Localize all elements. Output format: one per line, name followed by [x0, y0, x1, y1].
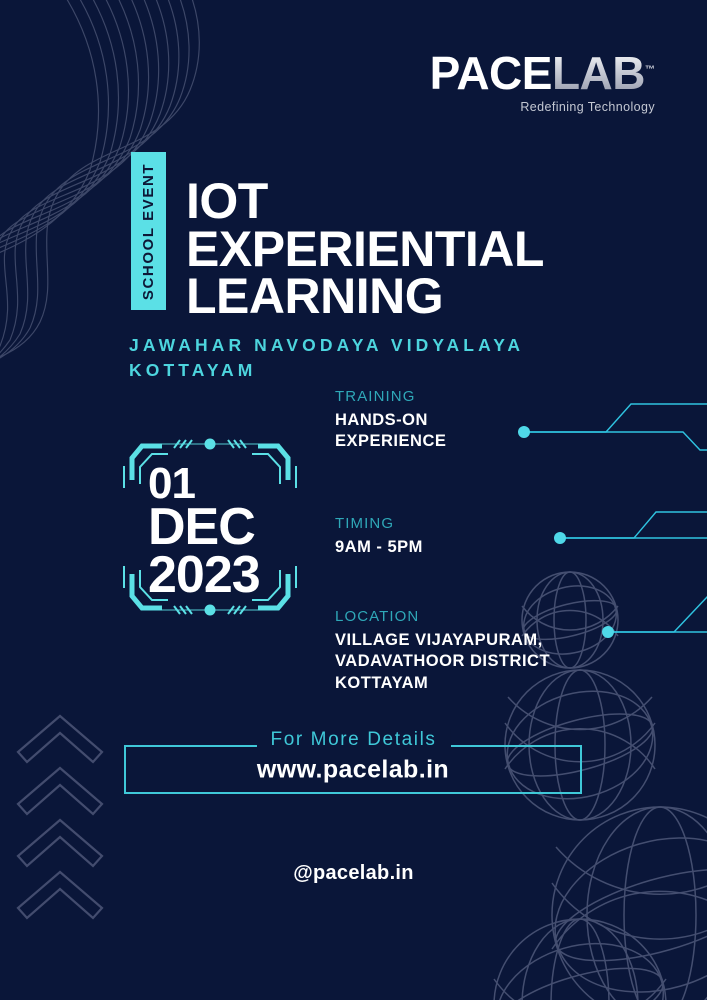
cta-box[interactable]: www.pacelab.in	[124, 745, 582, 794]
logo-wordmark: PACELAB™	[430, 50, 655, 96]
info-value: HANDS-ON EXPERIENCE	[335, 410, 446, 453]
website-url[interactable]: www.pacelab.in	[126, 755, 580, 784]
info-value-line-3: KOTTAYAM	[335, 673, 550, 694]
event-date-frame: 01 DEC 2023	[118, 436, 302, 618]
event-date-month: DEC	[148, 504, 260, 552]
info-label: LOCATION	[335, 608, 550, 625]
page-subtitle-line-1: JAWAHAR NAVODAYA VIDYALAYA	[129, 333, 649, 358]
event-date: 01 DEC 2023	[148, 464, 260, 600]
trademark-icon: ™	[645, 65, 655, 76]
info-value-line-1: HANDS-ON	[335, 410, 446, 431]
info-block-training: TRAINING HANDS-ON EXPERIENCE	[335, 388, 446, 453]
info-block-timing: TIMING 9AM - 5PM	[335, 515, 423, 558]
page-title: IOT EXPERIENTIAL LEARNING	[186, 178, 606, 321]
page-title-line-3: LEARNING	[186, 273, 606, 321]
poster-canvas: PACELAB™ Redefining Technology SCHOOL EV…	[0, 0, 707, 1000]
chevron-arrows-up-icon	[8, 710, 118, 940]
logo-word-pace: PACE	[430, 47, 552, 99]
info-value-line-1: VILLAGE VIJAYAPURAM,	[335, 630, 550, 651]
info-value: VILLAGE VIJAYAPURAM, VADAVATHOOR DISTRIC…	[335, 630, 550, 694]
social-handle[interactable]: @pacelab.in	[0, 862, 707, 885]
status-badge: SCHOOL EVENT	[131, 152, 166, 310]
info-block-location: LOCATION VILLAGE VIJAYAPURAM, VADAVATHOO…	[335, 608, 550, 694]
cta-label: For More Details	[256, 729, 450, 751]
logo-tagline: Redefining Technology	[430, 101, 655, 114]
logo-word-lab: LAB	[552, 47, 645, 99]
info-value-line-2: EXPERIENCE	[335, 431, 446, 452]
page-title-line-1: IOT	[186, 178, 606, 226]
event-date-year: 2023	[148, 552, 260, 600]
brand-logo: PACELAB™ Redefining Technology	[430, 50, 655, 114]
page-subtitle: JAWAHAR NAVODAYA VIDYALAYA KOTTAYAM	[129, 333, 649, 384]
info-label: TRAINING	[335, 388, 446, 405]
info-label: TIMING	[335, 515, 423, 532]
info-value-line-2: VADAVATHOOR DISTRICT	[335, 651, 550, 672]
info-value: 9AM - 5PM	[335, 537, 423, 558]
info-value-line-1: 9AM - 5PM	[335, 537, 423, 558]
page-subtitle-line-2: KOTTAYAM	[129, 358, 649, 383]
page-title-line-2: EXPERIENTIAL	[186, 226, 606, 274]
status-badge-label: SCHOOL EVENT	[140, 162, 157, 299]
